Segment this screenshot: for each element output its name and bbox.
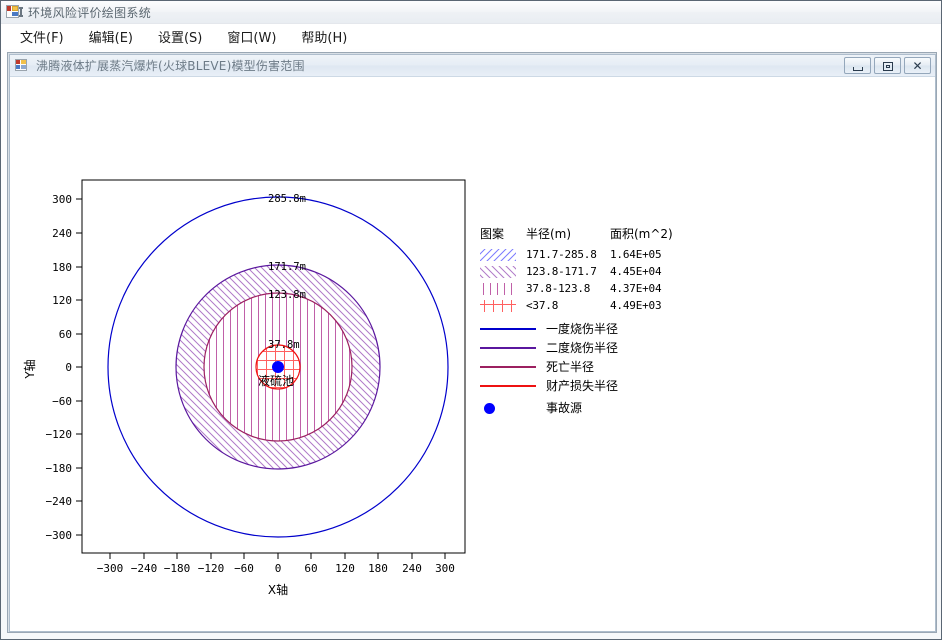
legend-label-death-radius: 死亡半径 — [546, 358, 594, 375]
legend-label-accident-source: 事故源 — [546, 399, 582, 416]
svg-text:−120: −120 — [46, 428, 73, 441]
svg-text:60: 60 — [59, 328, 72, 341]
menu-window[interactable]: 窗口(W) — [216, 24, 287, 49]
legend-label-second-degree-burn: 二度烧伤半径 — [546, 339, 618, 356]
legend-radius-2: 123.8-171.7 — [526, 265, 610, 278]
menu-settings[interactable]: 设置(S) — [147, 24, 213, 49]
legend-header-row: 图案 半径(m) 面积(m^2) — [480, 225, 690, 242]
legend-header-radius: 半径(m) — [526, 225, 610, 242]
svg-text:0: 0 — [65, 361, 72, 374]
svg-text:−240: −240 — [46, 495, 73, 508]
app-title: 环境风险评价绘图系统 — [28, 4, 151, 21]
legend-line-row-4: 财产损失半径 — [480, 376, 690, 395]
ring-label-285: 285.8m — [268, 193, 306, 205]
legend-area-2: 4.45E+04 — [610, 265, 690, 278]
svg-text:180: 180 — [368, 562, 388, 575]
legend-header-pattern: 图案 — [480, 225, 526, 242]
legend-label-first-degree-burn: 一度烧伤半径 — [546, 320, 618, 337]
ring-label-123: 123.8m — [268, 289, 306, 301]
svg-text:180: 180 — [52, 261, 72, 274]
child-window-icon — [15, 58, 30, 73]
mdi-child-window: 沸腾液体扩展蒸汽爆炸(火球BLEVE)模型伤害范围 ✕ — [9, 54, 936, 632]
minimize-icon — [853, 67, 863, 71]
legend-row-3: 37.8-123.8 4.37E+04 — [480, 280, 690, 297]
chart-legend: 图案 半径(m) 面积(m^2) 171.7-285.8 1.64E+05 — [480, 225, 690, 417]
svg-text:−300: −300 — [97, 562, 124, 575]
legend-radius-1: 171.7-285.8 — [526, 248, 610, 261]
menu-edit[interactable]: 编辑(E) — [78, 24, 144, 49]
damage-range-chart: 285.8m 171.7m 123.8m 37.8m 液硫池 300 240 1… — [10, 77, 935, 631]
legend-radius-4: <37.8 — [526, 299, 610, 312]
close-button[interactable]: ✕ — [904, 57, 931, 74]
legend-label-property-loss: 财产损失半径 — [546, 377, 618, 394]
legend-area-3: 4.37E+04 — [610, 282, 690, 295]
svg-text:−120: −120 — [198, 562, 225, 575]
menu-help[interactable]: 帮助(H) — [290, 24, 358, 49]
y-axis: 300 240 180 120 60 0 −60 −120 −180 −240 … — [46, 193, 83, 542]
legend-line-row-2: 二度烧伤半径 — [480, 338, 690, 357]
svg-text:−300: −300 — [46, 529, 73, 542]
legend-row-4: <37.8 4.49E+03 — [480, 297, 690, 314]
svg-text:−240: −240 — [131, 562, 158, 575]
svg-text:240: 240 — [402, 562, 422, 575]
child-window-controls: ✕ — [844, 57, 931, 74]
x-axis-label: X轴 — [268, 582, 288, 597]
svg-text:−180: −180 — [164, 562, 191, 575]
line-swatch-property-loss — [480, 385, 536, 387]
y-axis-label: Y轴 — [22, 359, 37, 379]
legend-line-row-3: 死亡半径 — [480, 357, 690, 376]
svg-text:−60: −60 — [52, 395, 72, 408]
line-swatch-death-radius — [480, 366, 536, 368]
application-window: 环境风险评价绘图系统 文件(F) 编辑(E) 设置(S) 窗口(W) 帮助(H)… — [0, 0, 942, 640]
svg-text:−60: −60 — [234, 562, 254, 575]
svg-text:120: 120 — [335, 562, 355, 575]
svg-text:60: 60 — [304, 562, 317, 575]
svg-text:300: 300 — [435, 562, 455, 575]
ring-label-37: 37.8m — [268, 339, 300, 351]
hatch-vertical-icon — [480, 283, 516, 295]
ring-label-171: 171.7m — [268, 261, 306, 273]
svg-text:−180: −180 — [46, 462, 73, 475]
legend-area-1: 1.64E+05 — [610, 248, 690, 261]
menu-file[interactable]: 文件(F) — [9, 24, 75, 49]
accident-source-dot-icon — [480, 402, 536, 414]
child-window-body: 285.8m 171.7m 123.8m 37.8m 液硫池 300 240 1… — [10, 77, 935, 631]
minimize-button[interactable] — [844, 57, 871, 74]
svg-text:120: 120 — [52, 294, 72, 307]
svg-text:300: 300 — [52, 193, 72, 206]
legend-row-1: 171.7-285.8 1.64E+05 — [480, 246, 690, 263]
menubar: 文件(F) 编辑(E) 设置(S) 窗口(W) 帮助(H) — [1, 24, 941, 49]
legend-row-2: 123.8-171.7 4.45E+04 — [480, 263, 690, 280]
accident-source-point — [272, 361, 284, 373]
hatch-diagonal-forward-icon — [480, 249, 516, 261]
app-window-icon — [6, 4, 22, 20]
child-window-title: 沸腾液体扩展蒸汽爆炸(火球BLEVE)模型伤害范围 — [36, 57, 305, 74]
legend-area-4: 4.49E+03 — [610, 299, 690, 312]
mdi-client-area: 沸腾液体扩展蒸汽爆炸(火球BLEVE)模型伤害范围 ✕ — [7, 52, 937, 633]
legend-header-area: 面积(m^2) — [610, 225, 690, 242]
source-point-label: 液硫池 — [258, 373, 294, 388]
legend-radius-3: 37.8-123.8 — [526, 282, 610, 295]
close-icon: ✕ — [905, 58, 930, 73]
line-swatch-first-degree-burn — [480, 328, 536, 330]
child-titlebar[interactable]: 沸腾液体扩展蒸汽爆炸(火球BLEVE)模型伤害范围 ✕ — [10, 55, 935, 77]
maximize-icon — [883, 62, 893, 71]
legend-line-row-1: 一度烧伤半径 — [480, 319, 690, 338]
hatch-diagonal-back-icon — [480, 266, 516, 278]
legend-accident-source-row: 事故源 — [480, 398, 690, 417]
maximize-button[interactable] — [874, 57, 901, 74]
line-swatch-second-degree-burn — [480, 347, 536, 349]
svg-text:240: 240 — [52, 227, 72, 240]
svg-text:0: 0 — [275, 562, 282, 575]
hatch-cross-icon — [480, 300, 516, 312]
main-titlebar: 环境风险评价绘图系统 — [1, 1, 941, 24]
x-axis: −300 −240 −180 −120 −60 0 60 120 180 240… — [97, 553, 455, 575]
